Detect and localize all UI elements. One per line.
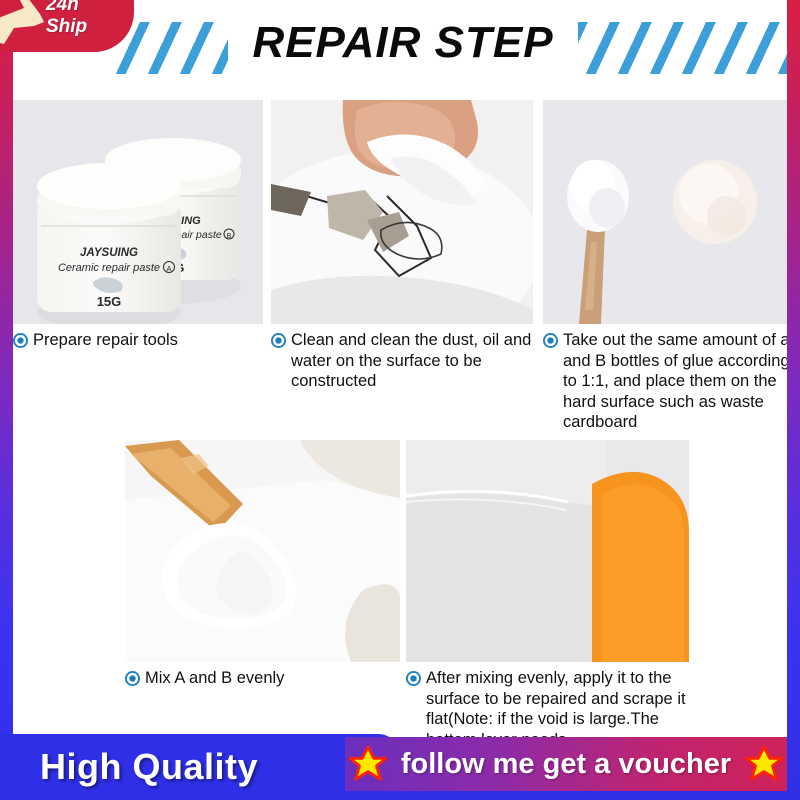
voucher-banner[interactable]: follow me get a voucher — [345, 737, 787, 791]
voucher-label: follow me get a voucher — [401, 748, 731, 781]
step-4-photo — [125, 440, 400, 662]
high-quality-banner: High Quality — [0, 734, 400, 800]
step-3: Take out the same amount of a and B bott… — [543, 100, 793, 433]
radio-bullet-icon — [125, 671, 140, 686]
step-4-caption-text: Mix A and B evenly — [145, 668, 400, 689]
star-icon — [745, 745, 783, 783]
svg-text:Ceramic repair paste: Ceramic repair paste — [58, 262, 160, 274]
right-gradient-border — [787, 0, 800, 800]
left-gradient-border — [0, 0, 13, 800]
steps-row-top: JAYSUING Ceramic repair paste B 15G — [13, 100, 787, 430]
step-1-caption: Prepare repair tools — [13, 324, 263, 351]
radio-bullet-icon — [543, 333, 558, 348]
ship-badge-text: 24h Ship — [46, 0, 87, 38]
step-3-caption-text: Take out the same amount of a and B bott… — [563, 330, 793, 433]
step-5-photo — [406, 440, 689, 662]
radio-bullet-icon — [406, 671, 421, 686]
steps-container: JAYSUING Ceramic repair paste B 15G — [13, 96, 787, 734]
star-icon — [349, 745, 387, 783]
step-1: JAYSUING Ceramic repair paste B 15G — [13, 100, 263, 351]
step-3-caption: Take out the same amount of a and B bott… — [543, 324, 793, 433]
step-5: After mixing evenly, apply it to the sur… — [406, 440, 689, 750]
step-1-photo: JAYSUING Ceramic repair paste B 15G — [13, 100, 263, 324]
high-quality-label: High Quality — [40, 746, 258, 788]
infographic-page: REPAIR STEP 24h Ship — [0, 0, 800, 800]
step-1-caption-text: Prepare repair tools — [33, 330, 263, 351]
svg-text:15G: 15G — [97, 294, 122, 309]
steps-row-bottom: Mix A and B evenly — [13, 440, 787, 740]
ship-badge-line2: Ship — [46, 16, 87, 38]
ship-badge: 24h Ship — [0, 0, 134, 52]
step-2-photo — [271, 100, 533, 324]
header-stripes-right — [578, 22, 787, 74]
ship-badge-line1: 24h — [46, 0, 87, 16]
footer-banner: High Quality follow me get a voucher — [0, 734, 800, 800]
page-title: REPAIR STEP — [228, 18, 578, 68]
radio-bullet-icon — [271, 333, 286, 348]
svg-text:B: B — [227, 233, 232, 240]
step-2-caption-text: Clean and clean the dust, oil and water … — [291, 330, 533, 392]
svg-text:JAYSUING: JAYSUING — [80, 247, 138, 259]
airplane-icon — [0, 0, 46, 48]
radio-bullet-icon — [13, 333, 28, 348]
step-2-caption: Clean and clean the dust, oil and water … — [271, 324, 533, 392]
step-4-caption: Mix A and B evenly — [125, 662, 400, 689]
step-3-photo — [543, 100, 793, 324]
step-4: Mix A and B evenly — [125, 440, 400, 689]
svg-text:A: A — [166, 264, 171, 273]
step-2: Clean and clean the dust, oil and water … — [271, 100, 533, 392]
